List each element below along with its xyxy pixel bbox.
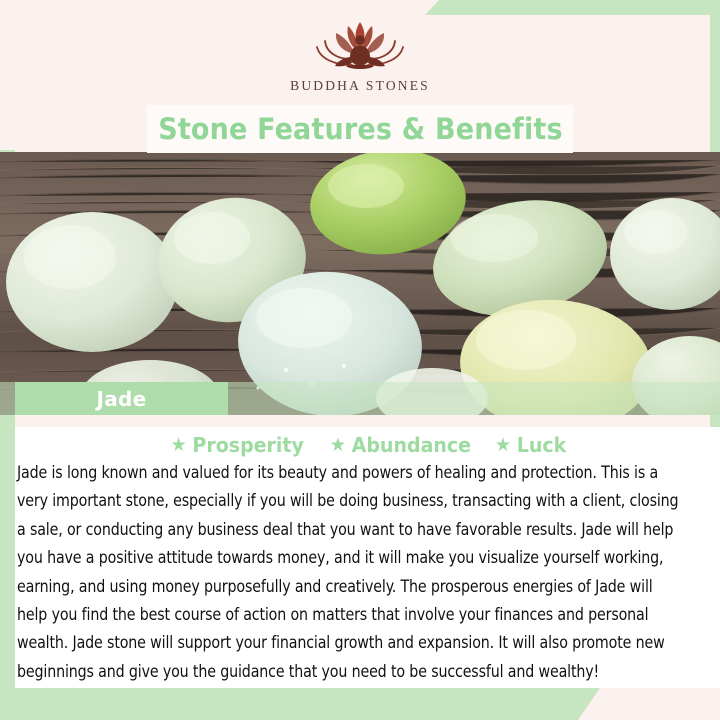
brand-logo: BUDDHA STONES — [0, 18, 720, 108]
benefit-label: Prosperity — [193, 433, 305, 457]
star-icon: ★ — [494, 436, 510, 455]
benefit-item-abundance: ★ Abundance — [329, 433, 470, 457]
brand-name: BUDDHA STONES — [290, 78, 430, 94]
stone-name-label: Jade — [15, 382, 228, 415]
title-banner: Stone Features & Benefits — [147, 105, 573, 153]
infographic-page: BUDDHA STONES Stone Features & Benefits — [0, 0, 720, 720]
product-photo — [0, 152, 720, 415]
benefits-row: ★ Prosperity ★ Abundance ★ Luck — [15, 430, 720, 460]
description-paragraph: Jade is long known and valued for its be… — [17, 459, 683, 686]
page-title: Stone Features & Benefits — [158, 112, 563, 146]
lotus-meditation-icon — [300, 18, 420, 76]
benefit-label: Abundance — [351, 433, 470, 457]
benefit-item-luck: ★ Luck — [494, 433, 565, 457]
star-icon: ★ — [329, 436, 345, 455]
decor-band-bottom-left — [0, 688, 600, 720]
decor-band-top-right — [425, 0, 720, 15]
star-icon: ★ — [171, 436, 187, 455]
benefit-label: Luck — [516, 433, 566, 457]
benefit-item-prosperity: ★ Prosperity — [171, 433, 304, 457]
